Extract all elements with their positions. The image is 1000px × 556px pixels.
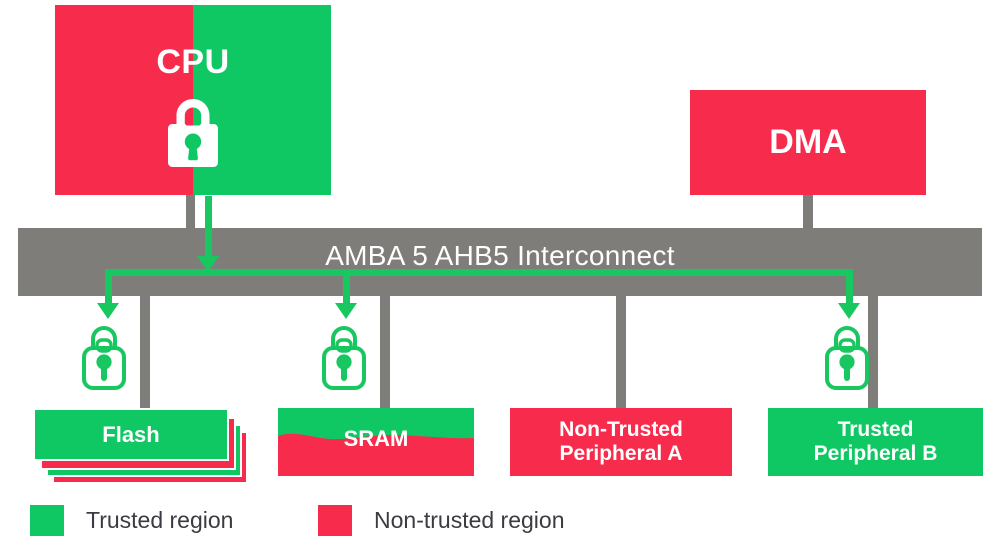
legend-item-trusted: Trusted region [30,505,233,536]
peripheral-b-lock-outline-icon [823,320,871,392]
flash-lock-outline-icon [80,320,128,392]
peripheral-b-label-line2: Peripheral B [814,442,938,466]
peripheral-a-label-line2: Peripheral A [559,442,683,466]
peripheral-a-label-line1: Non-Trusted [559,418,683,442]
flash-layer-1: Flash [33,408,229,461]
secure-bus-branch-peripheral-b [846,269,853,305]
legend-label-trusted: Trusted region [86,507,233,534]
lock-filled-icon [165,97,221,169]
peripheral-a-block[interactable]: Non-Trusted Peripheral A [510,408,732,476]
dma-block[interactable]: DMA [690,90,926,195]
sram-bus-connector [380,296,390,408]
legend: Trusted region Non-trusted region [30,505,970,545]
diagram-canvas: CPU DMA AMBA 5 AHB5 Interconnect [0,0,1000,556]
secure-bus-branch-flash [105,269,112,305]
sram-block[interactable]: SRAM [278,408,474,476]
sram-label: SRAM [278,426,474,452]
legend-swatch-non-trusted [318,505,352,536]
legend-label-non-trusted: Non-trusted region [374,507,565,534]
peripheral-b-block[interactable]: Trusted Peripheral B [768,408,983,476]
flash-label: Flash [102,422,159,448]
cpu-label: CPU [55,43,331,81]
peripheral-a-bus-connector [616,296,626,408]
dma-label: DMA [769,123,846,161]
secure-bus-trunk [105,269,853,276]
secure-bus-branch-sram [343,269,350,305]
interconnect-bar[interactable]: AMBA 5 AHB5 Interconnect [18,228,982,296]
flash-block[interactable]: Flash [33,408,248,486]
interconnect-label: AMBA 5 AHB5 Interconnect [18,240,982,271]
legend-swatch-trusted [30,505,64,536]
legend-item-non-trusted: Non-trusted region [318,505,565,536]
cpu-block[interactable]: CPU [55,5,331,195]
secure-bus-arrow-sram [335,303,357,319]
flash-bus-connector [140,296,150,408]
sram-lock-outline-icon [320,320,368,392]
peripheral-b-label-line1: Trusted [814,418,938,442]
secure-bus-cpu-drop [205,196,212,258]
secure-bus-arrow-flash [97,303,119,319]
secure-bus-arrow-peripheral-b [838,303,860,319]
